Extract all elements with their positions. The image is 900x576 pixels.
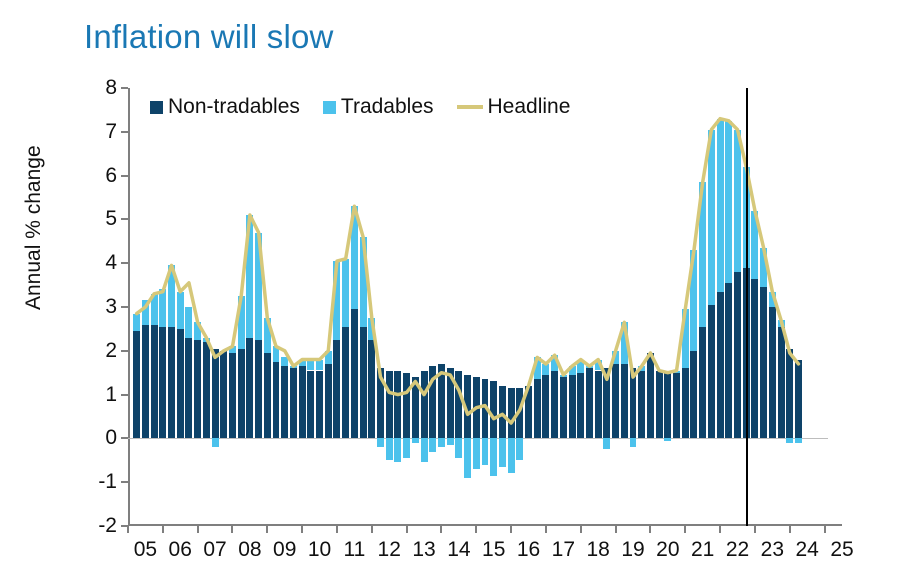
y-tick-label: 6: [105, 164, 117, 188]
x-tick: [824, 526, 826, 533]
page-title: Inflation will slow: [84, 18, 334, 56]
y-tick-label: 1: [105, 383, 117, 407]
x-tick: [545, 526, 547, 533]
x-tick-label: 11: [343, 538, 365, 562]
x-tick: [127, 526, 129, 533]
x-tick: [615, 526, 617, 533]
x-tick-label: 07: [203, 538, 226, 562]
x-tick: [162, 526, 164, 533]
x-tick: [684, 526, 686, 533]
forecast-divider-line: [746, 88, 748, 526]
legend-swatch-icon: [323, 101, 336, 114]
x-tick-label: 17: [552, 538, 575, 562]
legend-label: Headline: [488, 95, 571, 119]
x-tick-label: 13: [412, 538, 435, 562]
y-tick: [121, 262, 128, 264]
legend: Non-tradablesTradablesHeadline: [150, 95, 570, 119]
x-tick-label: 24: [795, 538, 818, 562]
x-tick-label: 16: [517, 538, 540, 562]
x-tick: [406, 526, 408, 533]
x-tick-label: 09: [273, 538, 296, 562]
plot-area: -2-1012345678 05060708091011121314151617…: [128, 88, 842, 526]
legend-item[interactable]: Headline: [457, 95, 571, 119]
x-tick: [440, 526, 442, 533]
x-tick-label: 05: [134, 538, 157, 562]
legend-label: Tradables: [341, 95, 434, 119]
x-tick-label: 20: [656, 538, 679, 562]
y-tick-label: 5: [105, 207, 117, 231]
y-tick: [121, 306, 128, 308]
legend-item[interactable]: Non-tradables: [150, 95, 300, 119]
y-tick: [121, 437, 128, 439]
x-tick: [475, 526, 477, 533]
y-tick: [121, 394, 128, 396]
x-tick-label: 12: [378, 538, 401, 562]
x-tick-label: 14: [447, 538, 470, 562]
x-tick-label: 21: [691, 538, 714, 562]
headline-line-series: [128, 88, 842, 526]
y-tick-label: 7: [105, 120, 117, 144]
y-tick-label: 8: [105, 76, 117, 100]
y-tick-label: -2: [98, 514, 117, 538]
x-tick-label: 06: [169, 538, 192, 562]
legend-item[interactable]: Tradables: [323, 95, 434, 119]
legend-label: Non-tradables: [168, 95, 300, 119]
x-tick-label: 08: [238, 538, 261, 562]
x-tick: [510, 526, 512, 533]
y-tick: [121, 87, 128, 89]
x-tick-label: 10: [308, 538, 331, 562]
x-tick: [754, 526, 756, 533]
x-tick: [719, 526, 721, 533]
y-tick-label: -1: [98, 470, 117, 494]
x-tick-label: 19: [621, 538, 644, 562]
x-tick: [301, 526, 303, 533]
y-tick-label: 4: [105, 251, 117, 275]
y-tick: [121, 131, 128, 133]
x-tick: [649, 526, 651, 533]
x-tick-label: 22: [726, 538, 749, 562]
legend-line-marker-icon: [457, 105, 483, 109]
y-axis-title: Annual % change: [22, 145, 46, 310]
x-tick: [197, 526, 199, 533]
y-tick-label: 2: [105, 339, 117, 363]
x-tick: [789, 526, 791, 533]
x-tick-label: 15: [482, 538, 505, 562]
y-tick-label: 3: [105, 295, 117, 319]
y-tick: [121, 218, 128, 220]
headline-polyline: [137, 119, 799, 423]
y-tick: [121, 481, 128, 483]
chart-root: Inflation will slow Annual % change -2-1…: [0, 0, 900, 576]
x-tick: [266, 526, 268, 533]
x-tick-label: 25: [830, 538, 853, 562]
y-tick: [121, 350, 128, 352]
x-tick: [336, 526, 338, 533]
x-tick-label: 18: [587, 538, 610, 562]
x-tick-label: 23: [761, 538, 784, 562]
y-tick-label: 0: [105, 426, 117, 450]
y-tick: [121, 175, 128, 177]
x-tick: [371, 526, 373, 533]
legend-swatch-icon: [150, 101, 163, 114]
x-tick: [231, 526, 233, 533]
x-tick: [580, 526, 582, 533]
plot-inner: -2-1012345678 05060708091011121314151617…: [128, 88, 842, 526]
